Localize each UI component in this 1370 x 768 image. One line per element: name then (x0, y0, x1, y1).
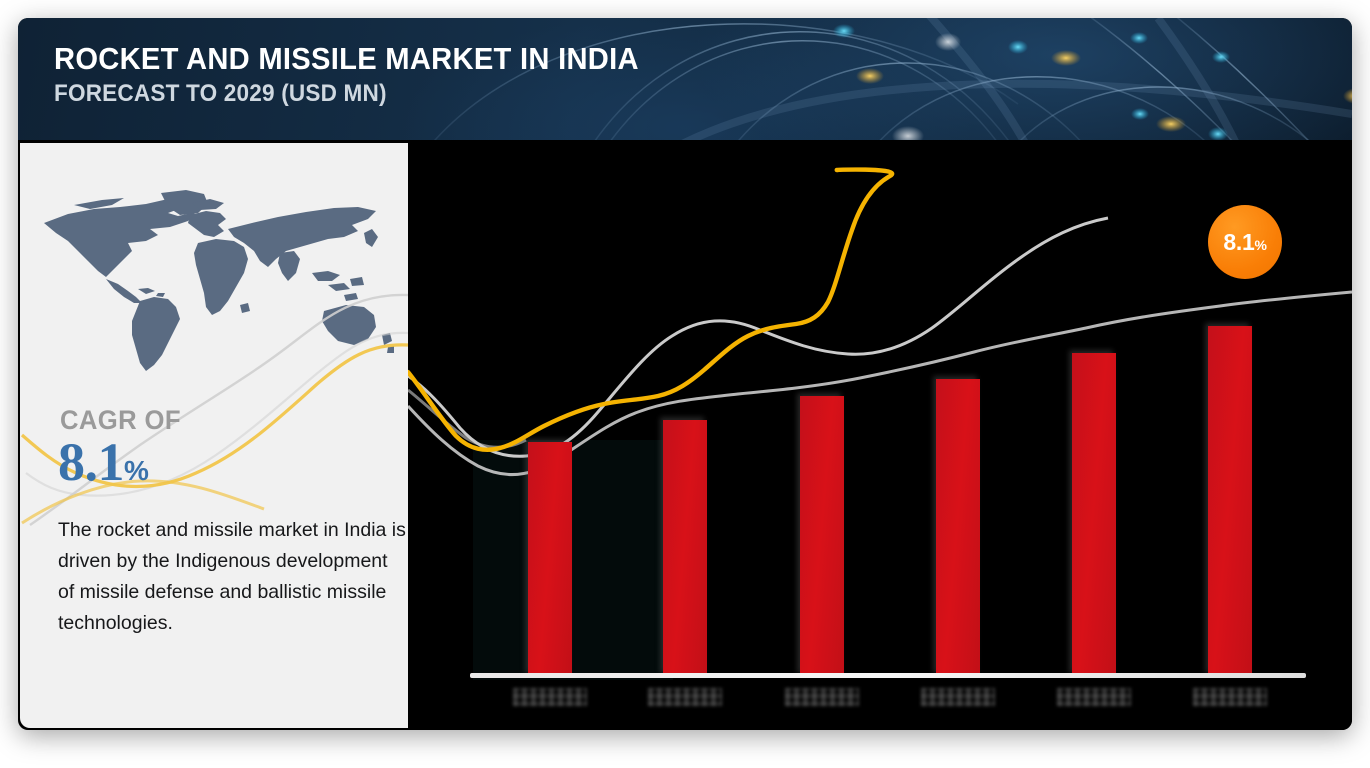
page-subtitle: FORECAST TO 2029 (USD MN) (54, 80, 639, 108)
x-tick-label-2: ████ (648, 688, 722, 706)
cagr-badge-value: 8.1 (1223, 229, 1254, 255)
infographic-root: ROCKET AND MISSILE MARKET IN INDIA FOREC… (0, 0, 1370, 768)
x-tick-label-3: ███ (785, 688, 859, 706)
cagr-value: 8.1% (58, 431, 148, 493)
x-axis-line (470, 673, 1306, 678)
x-tick-label-4: ████ (921, 688, 995, 706)
panel-description: The rocket and missile market in India i… (58, 515, 406, 639)
cagr-badge-unit: % (1254, 237, 1266, 253)
header-banner: ROCKET AND MISSILE MARKET IN INDIA FOREC… (18, 18, 1352, 140)
left-info-panel: CAGR OF 8.1% The rocket and missile mark… (20, 143, 408, 728)
bar-2[interactable] (663, 420, 707, 676)
bar-3[interactable] (800, 396, 844, 676)
cagr-number: 8.1 (58, 432, 124, 492)
bar-4[interactable] (936, 379, 980, 676)
x-tick-label-1: ████ (513, 688, 587, 706)
x-tick-label-6: ████ (1193, 688, 1267, 706)
page-title: ROCKET AND MISSILE MARKET IN INDIA (54, 42, 639, 77)
cagr-badge-text: 8.1% (1223, 229, 1266, 256)
bar-6[interactable] (1208, 326, 1252, 676)
x-tick-label-5: ████ (1057, 688, 1131, 706)
bar-1[interactable] (528, 442, 572, 676)
cagr-percent-sign: % (124, 455, 148, 486)
infographic-card: ROCKET AND MISSILE MARKET IN INDIA FOREC… (18, 18, 1352, 730)
header-titles: ROCKET AND MISSILE MARKET IN INDIA FOREC… (54, 42, 676, 108)
bar-5[interactable] (1072, 353, 1116, 676)
cagr-badge: 8.1% (1208, 205, 1282, 279)
